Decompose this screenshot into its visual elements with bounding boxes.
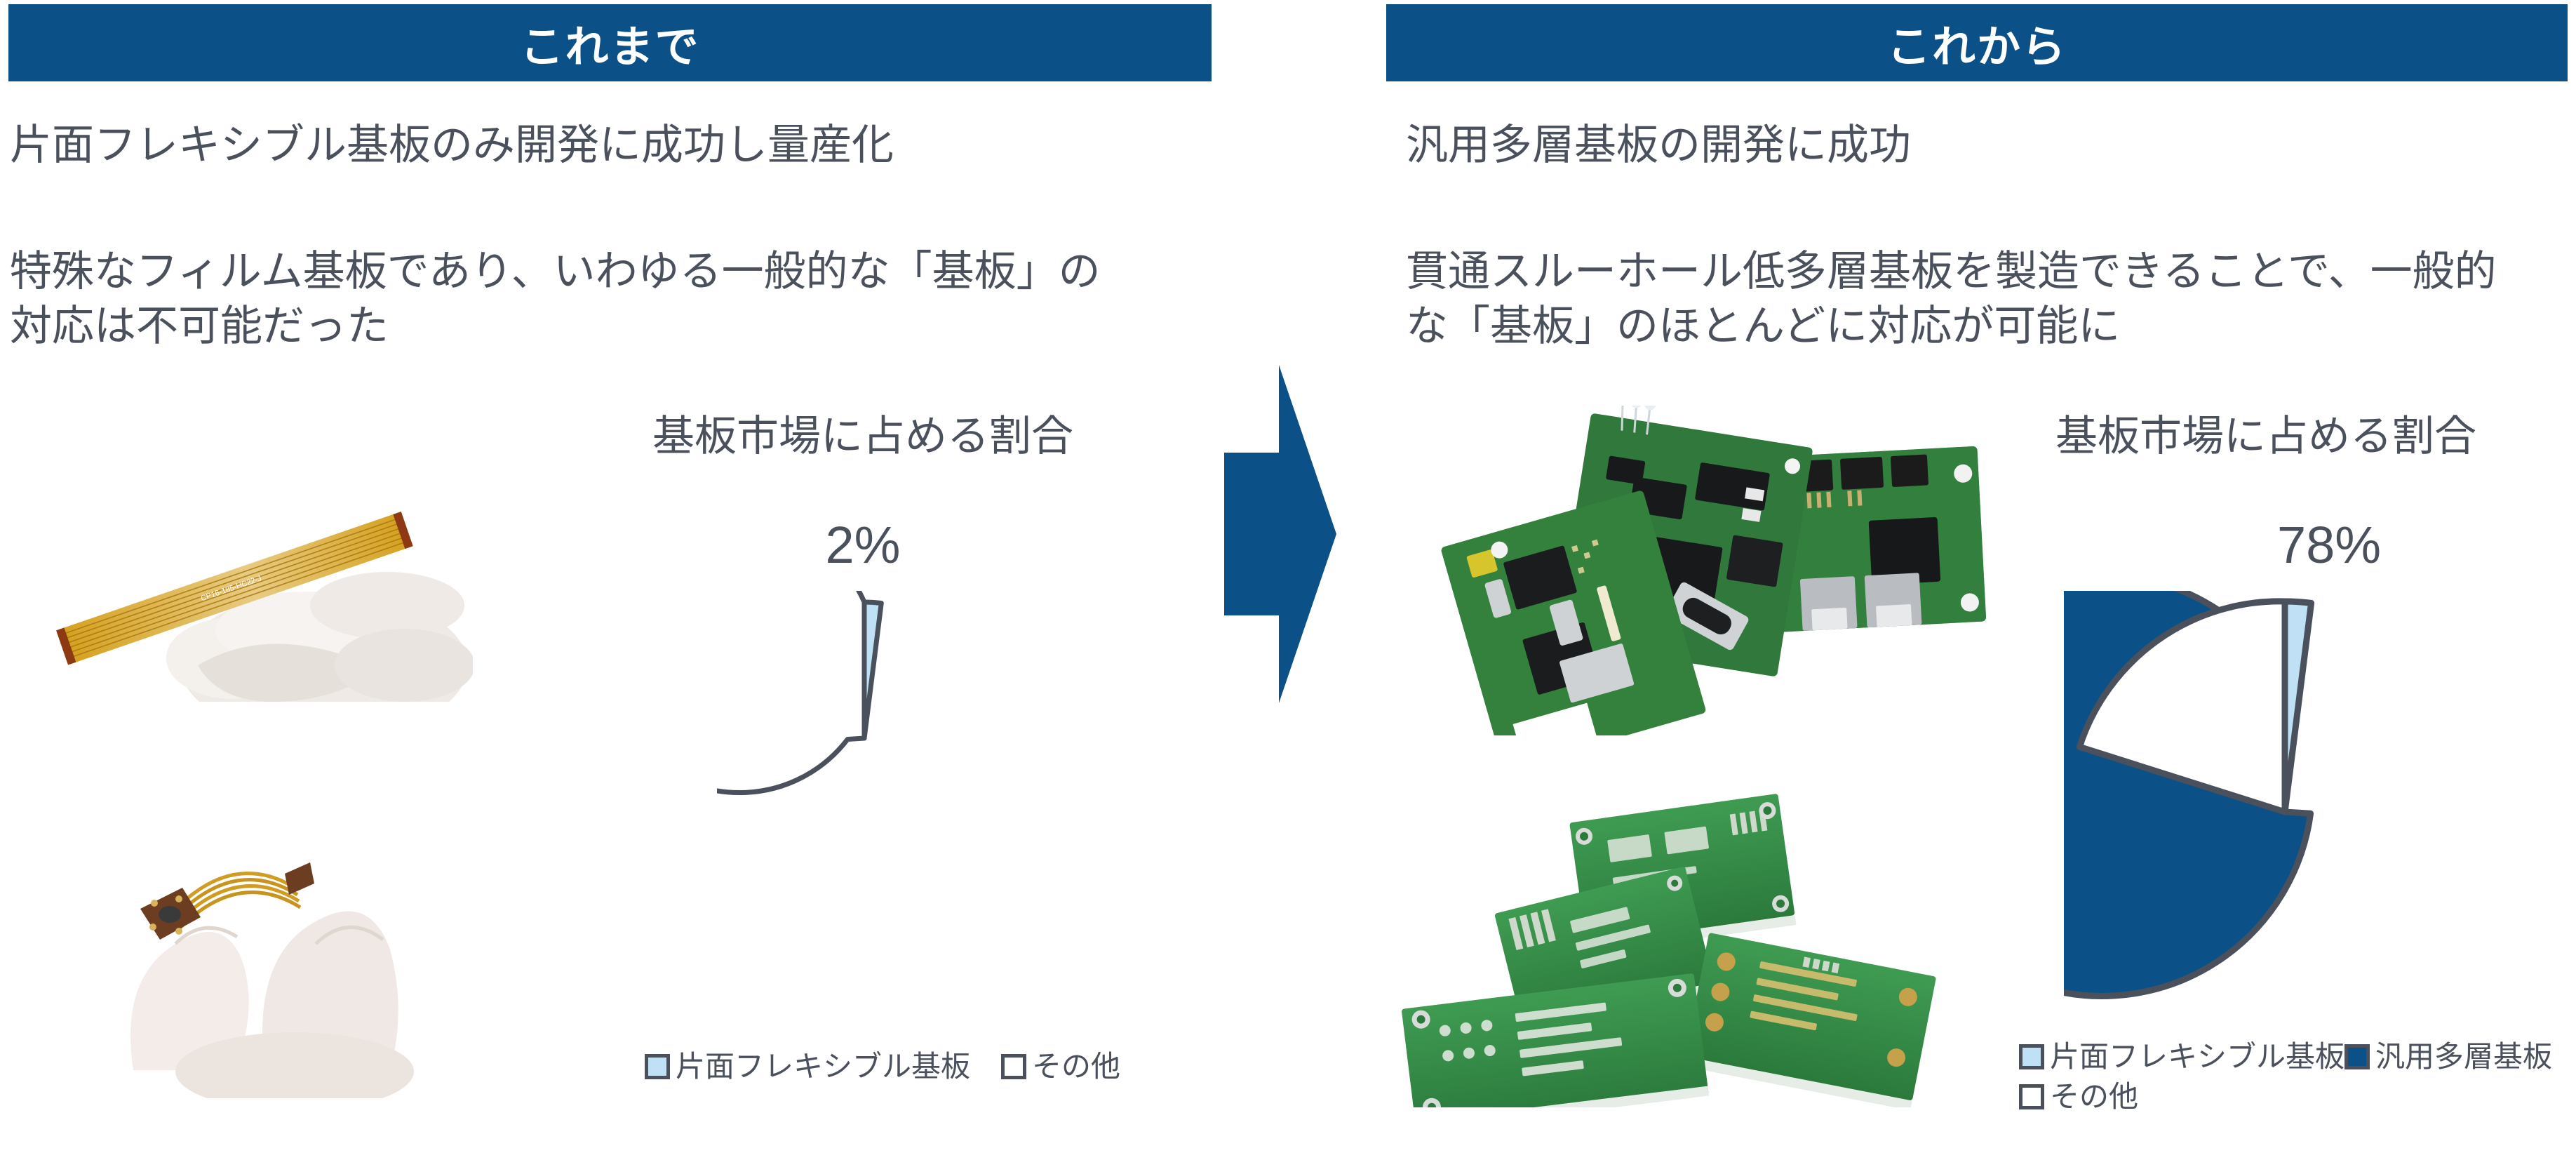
panel-right-banner: これから — [1386, 4, 2568, 81]
legend-label-other: その他 — [2050, 1077, 2138, 1117]
legend-item-multilayer[interactable]: 汎用多層基板 — [2344, 1037, 2552, 1077]
chart-left-legend: 片面フレキシブル基板 その他 — [616, 1047, 1149, 1087]
pie-left-slice-flex — [864, 602, 881, 738]
pie-left-slice-other — [717, 591, 864, 793]
panel-left-banner-label: これまで — [520, 11, 699, 74]
chart-left-highlight-value: 2% — [582, 519, 1143, 571]
chart-left-pie-graphic — [717, 591, 1012, 886]
bare-pcb-stack-illustration — [1402, 778, 1956, 1107]
legend-item-flex[interactable]: 片面フレキシブル基板 — [2019, 1037, 2344, 1077]
chart-right-pie: 基板市場に占める割合 78% 片面フレキシブル基板 汎用多層基板 — [1957, 407, 2575, 1158]
legend-label-flex: 片面フレキシブル基板 — [2050, 1037, 2344, 1077]
panel-left-paragraph-1: 片面フレキシブル基板のみ開発に成功し量産化 — [10, 118, 1202, 173]
panel-left-banner: これまで — [8, 4, 1212, 81]
chart-right-title: 基板市場に占める割合 — [1992, 415, 2540, 458]
panel-right-paragraph-2: 貫通スルーホール低多層基板を製造できることで、一般的 な「基板」のほとんどに対応… — [1406, 244, 2570, 354]
legend-swatch-other-icon — [2019, 1084, 2044, 1109]
legend-label-other: その他 — [1032, 1047, 1120, 1087]
panel-left-paragraph-2: 特殊なフィルム基板であり、いわゆる一般的な「基板」の 対応は不可能だった — [10, 244, 1202, 354]
assembled-pcb-illustration — [1381, 406, 1991, 735]
chart-right-legend: 片面フレキシブル基板 汎用多層基板 その他 — [2019, 1037, 2573, 1116]
legend-label-flex: 片面フレキシブル基板 — [676, 1047, 970, 1087]
slide-canvas: これまで 片面フレキシブル基板のみ開発に成功し量産化 特殊なフィルム基板であり、… — [0, 0, 2576, 1167]
photo-assembled-pcb-boards — [1381, 406, 1991, 735]
photo-flexible-flat-cable: CP16-185-HC22-J — [22, 455, 473, 702]
legend-item-other[interactable]: その他 — [2019, 1077, 2138, 1117]
panel-right-paragraph-1: 汎用多層基板の開発に成功 — [1406, 118, 2570, 173]
photo-flexible-circuit-in-fingers — [35, 768, 470, 1098]
chart-right-pie-graphic — [2064, 591, 2506, 1033]
pie-right-svg — [2064, 591, 2506, 1033]
pie-right-slice-flex — [2285, 601, 2312, 812]
legend-swatch-flex-icon — [645, 1054, 670, 1079]
legend-item-flex[interactable]: 片面フレキシブル基板 — [645, 1047, 970, 1087]
legend-swatch-flex-icon — [2019, 1044, 2044, 1069]
legend-swatch-other-icon — [1001, 1054, 1026, 1079]
pie-left-svg — [717, 591, 1012, 886]
chart-right-highlight-value: 78% — [2084, 519, 2575, 571]
photo-bare-pcb-stack — [1402, 778, 1956, 1107]
legend-item-other[interactable]: その他 — [1001, 1047, 1120, 1087]
flexible-flat-cable-illustration: CP16-185-HC22-J — [22, 455, 473, 702]
chart-left-pie: 基板市場に占める割合 2% 片面フレキシブル基板 その他 — [582, 407, 1143, 1116]
right-arrow-icon — [1224, 365, 1336, 703]
panel-right-banner-label: これから — [1887, 11, 2067, 74]
flexible-circuit-fingers-illustration — [35, 768, 470, 1098]
legend-swatch-multilayer-icon — [2344, 1044, 2370, 1069]
legend-label-multilayer: 汎用多層基板 — [2375, 1037, 2552, 1077]
transition-arrow — [1224, 365, 1336, 703]
chart-left-title: 基板市場に占める割合 — [582, 415, 1143, 458]
